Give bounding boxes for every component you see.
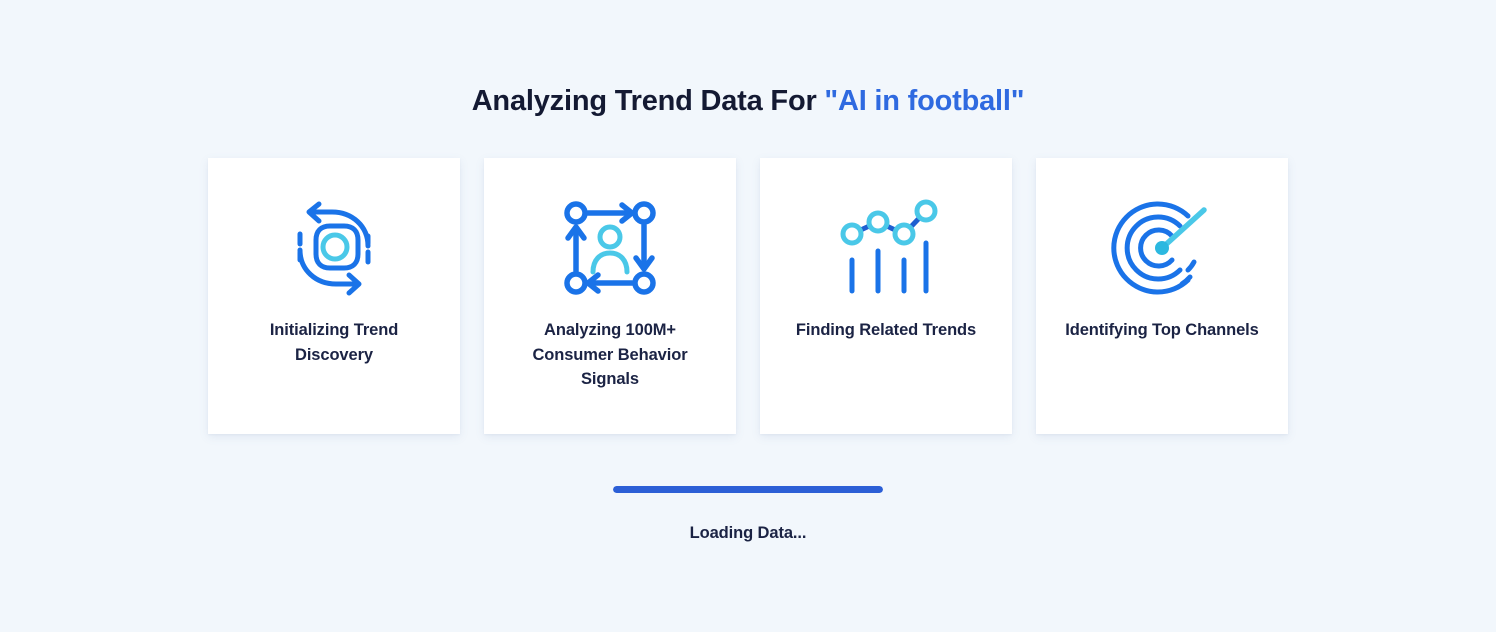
loading-status-text: Loading Data...	[690, 524, 807, 543]
step-card-label: Initializing Trend Discovery	[234, 318, 434, 368]
consumer-signals-icon	[556, 194, 664, 302]
step-card-identifying-top-channels: Identifying Top Channels	[1036, 158, 1288, 434]
step-card-list: Initializing Trend Discovery	[208, 158, 1288, 434]
progress-track	[613, 486, 883, 493]
page-title-prefix: Analyzing Trend Data For	[472, 85, 825, 117]
step-card-label: Finding Related Trends	[786, 318, 986, 343]
page-title: Analyzing Trend Data For "AI in football…	[472, 84, 1025, 119]
progress-bar	[613, 486, 883, 493]
page-title-query: "AI in football"	[824, 85, 1024, 117]
progress-fill	[613, 486, 883, 493]
step-card-finding-related-trends: Finding Related Trends	[760, 158, 1012, 434]
step-card-consumer-behavior-signals: Analyzing 100M+ Consumer Behavior Signal…	[484, 158, 736, 434]
trend-chart-icon	[832, 194, 940, 302]
step-card-initializing-trend-discovery: Initializing Trend Discovery	[208, 158, 460, 434]
loading-screen: Analyzing Trend Data For "AI in football…	[0, 0, 1496, 632]
step-card-label: Analyzing 100M+ Consumer Behavior Signal…	[510, 318, 710, 392]
radar-target-icon	[1108, 194, 1216, 302]
refresh-discovery-icon	[280, 194, 388, 302]
step-card-label: Identifying Top Channels	[1062, 318, 1262, 343]
